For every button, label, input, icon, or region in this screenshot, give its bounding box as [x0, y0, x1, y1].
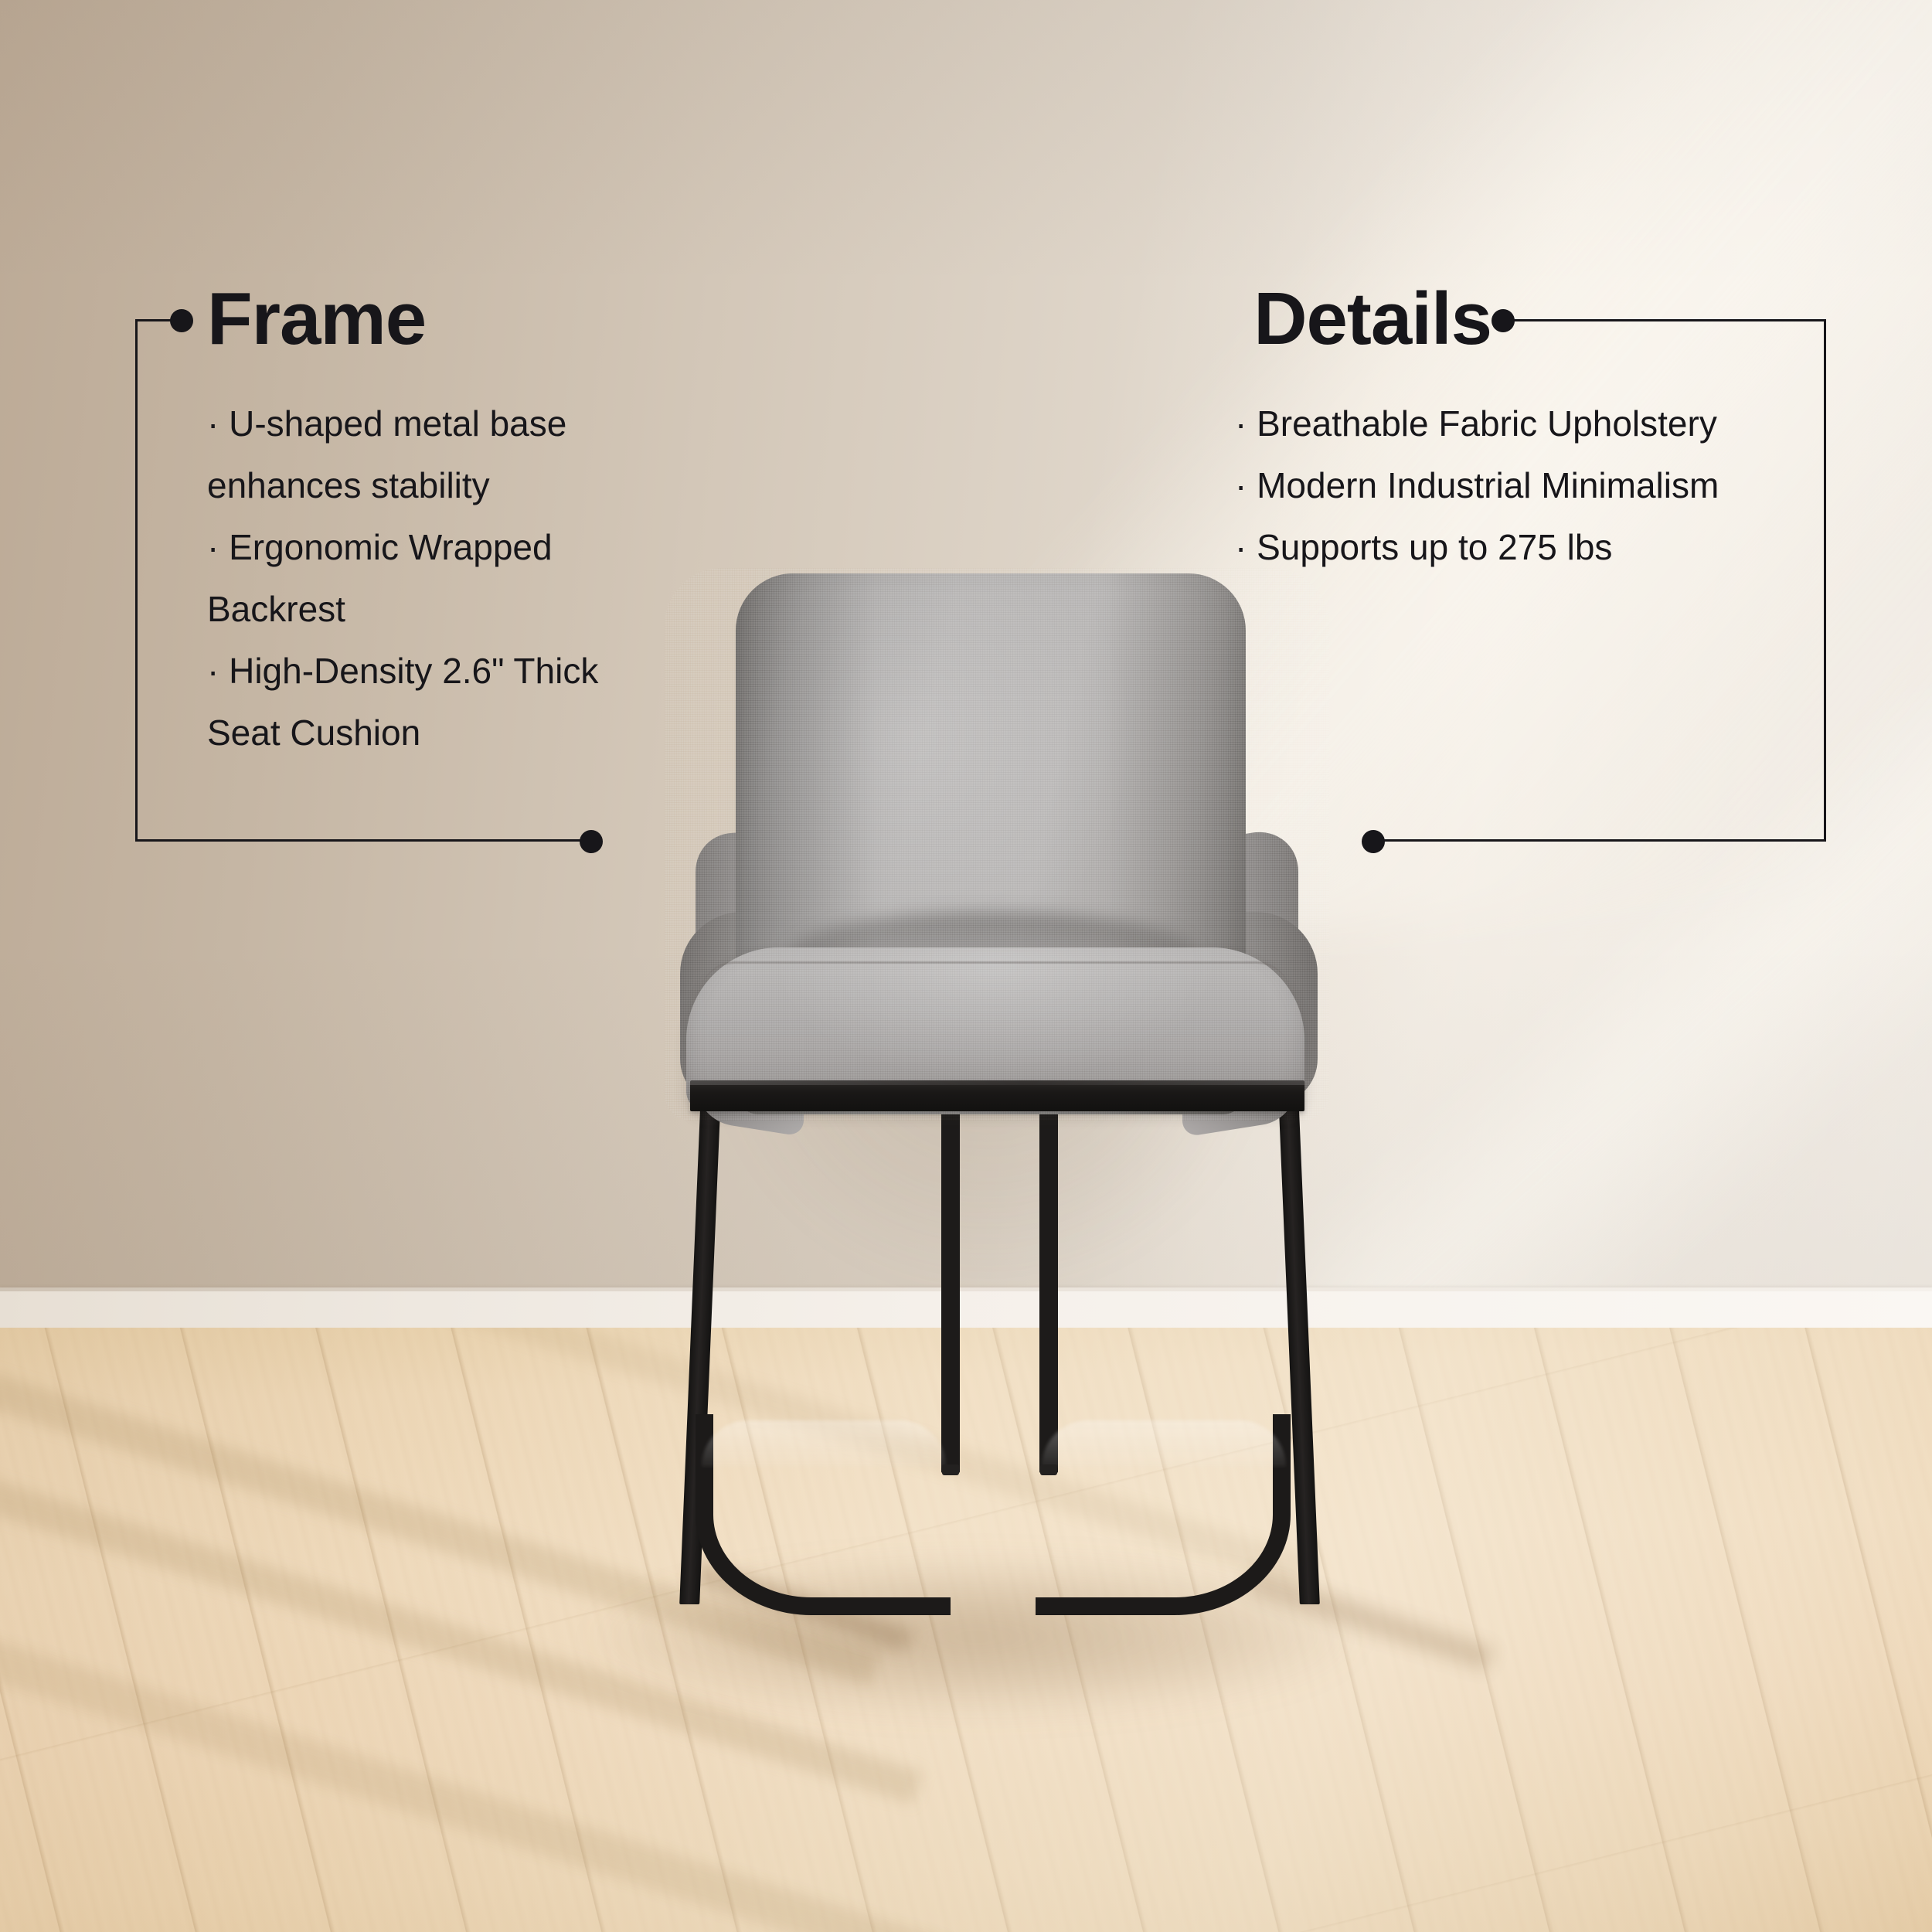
details-callout-dot — [1492, 309, 1515, 332]
details-feature-list: · Breathable Fabric Upholstery · Modern … — [1235, 393, 1776, 578]
frame-bracket-vertical — [135, 319, 138, 842]
list-item: · U-shaped metal base enhances stability — [207, 393, 640, 516]
frame-callout-dot — [170, 309, 193, 332]
details-bracket-bottom-segment — [1374, 839, 1826, 842]
frame-section-heading: Frame — [207, 282, 426, 356]
frame-bracket-bottom-segment — [135, 839, 593, 842]
details-bracket-vertical — [1824, 319, 1826, 842]
list-item: · High-Density 2.6" Thick Seat Cushion — [207, 640, 640, 764]
details-callout-end-dot — [1362, 830, 1385, 853]
details-section-heading: Details — [1253, 282, 1492, 356]
list-item: · Breathable Fabric Upholstery — [1235, 393, 1776, 454]
list-item: · Supports up to 275 lbs — [1235, 516, 1776, 578]
list-item: · Ergonomic Wrapped Backrest — [207, 516, 640, 640]
details-bracket-top-segment — [1503, 319, 1826, 321]
frame-feature-list: · U-shaped metal base enhances stability… — [207, 393, 640, 764]
product-infographic-scene: Frame · U-shaped metal base enhances sta… — [0, 0, 1932, 1932]
callout-annotation-layer: Frame · U-shaped metal base enhances sta… — [0, 0, 1932, 1932]
list-item: · Modern Industrial Minimalism — [1235, 454, 1776, 516]
frame-callout-end-dot — [580, 830, 603, 853]
